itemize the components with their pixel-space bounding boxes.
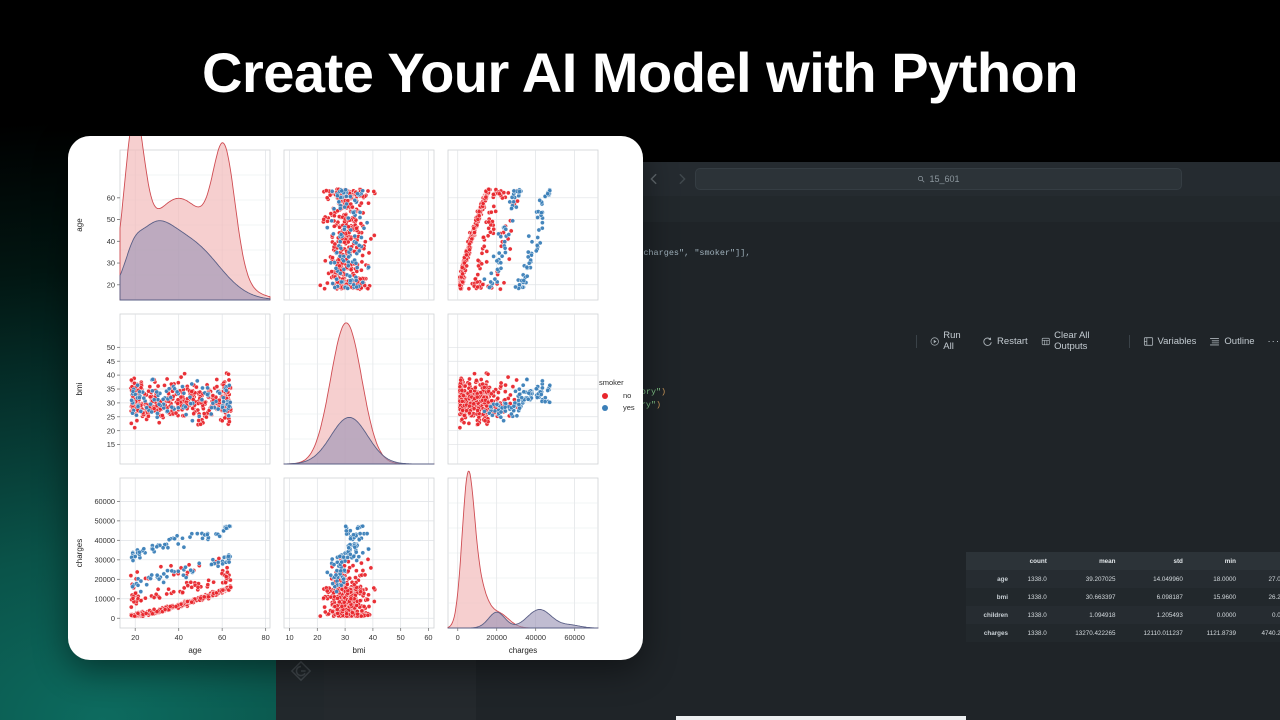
table-cell: 1.094918 [1051, 606, 1120, 624]
svg-text:60: 60 [424, 633, 432, 642]
svg-text:bmi: bmi [353, 646, 366, 655]
row-label: bmi [966, 588, 1012, 606]
table-cell: 1.205493 [1120, 606, 1187, 624]
svg-text:10000: 10000 [94, 594, 115, 603]
outline-icon [1209, 336, 1220, 347]
toolbar-divider-2 [1129, 335, 1130, 348]
table-cell: 6.098187 [1120, 588, 1187, 606]
table-row: age1338.039.20702514.04996018.000027.000… [966, 570, 1280, 588]
outline-button[interactable]: Outline [1209, 336, 1254, 347]
table-cell: 13270.422265 [1051, 624, 1120, 642]
svg-text:20: 20 [131, 633, 139, 642]
table-cell: 18.0000 [1187, 570, 1240, 588]
table-row: charges1338.013270.42226512110.011237112… [966, 624, 1280, 642]
table-cell: 15.9600 [1187, 588, 1240, 606]
svg-text:20: 20 [107, 280, 115, 289]
svg-text:40000: 40000 [94, 536, 115, 545]
svg-text:50000: 50000 [94, 516, 115, 525]
legend-title: smoker [599, 378, 635, 387]
legend-entry-yes: yes [599, 403, 635, 412]
arrow-left-icon[interactable] [647, 172, 661, 186]
svg-text:20000: 20000 [486, 633, 507, 642]
col-header-25pct: 25% [1240, 552, 1280, 570]
row-label: children [966, 606, 1012, 624]
col-header-min: min [1187, 552, 1240, 570]
search-text: 15_601 [929, 174, 959, 184]
legend-entry-no: no [599, 391, 635, 400]
legend-swatch-yes [602, 405, 608, 411]
svg-text:45: 45 [107, 357, 115, 366]
legend: smoker no yes [599, 378, 635, 415]
svg-text:30: 30 [107, 398, 115, 407]
restart-label: Restart [997, 336, 1028, 347]
cell-selection-bar [676, 716, 966, 720]
outline-label: Outline [1224, 336, 1254, 347]
run-all-label: Run All [943, 330, 969, 352]
variables-label: Variables [1158, 336, 1197, 347]
legend-swatch-no [602, 393, 608, 399]
svg-text:20000: 20000 [94, 575, 115, 584]
table-cell: 4740.28715 [1240, 624, 1280, 642]
table-cell: 39.207025 [1051, 570, 1120, 588]
svg-text:0: 0 [111, 614, 115, 623]
svg-text:60: 60 [107, 193, 115, 202]
arrow-right-icon[interactable] [675, 172, 689, 186]
restart-icon [982, 336, 993, 347]
svg-text:60000: 60000 [94, 497, 115, 506]
variables-icon [1143, 336, 1154, 347]
search-input[interactable]: 15_601 [695, 168, 1182, 190]
pairplot-figure: 2030405060age1520253035404550bmi20406080… [68, 136, 643, 660]
dataframe-output: countmeanstdmin25%50%75%max age1338.039.… [966, 552, 1280, 642]
col-header-mean: mean [1051, 552, 1120, 570]
col-header-std: std [1120, 552, 1187, 570]
svg-text:age: age [188, 646, 202, 655]
svg-text:30: 30 [107, 259, 115, 268]
svg-text:40: 40 [107, 371, 115, 380]
clear-icon [1041, 336, 1050, 347]
run-all-button[interactable]: Run All [930, 330, 969, 352]
table-header-row: countmeanstdmin25%50%75%max [966, 552, 1280, 570]
table-cell: 27.00000 [1240, 570, 1280, 588]
svg-text:80: 80 [262, 633, 270, 642]
table-cell: 1121.8739 [1187, 624, 1240, 642]
col-header-index [966, 552, 1012, 570]
svg-text:40: 40 [369, 633, 377, 642]
row-label: charges [966, 624, 1012, 642]
svg-text:60: 60 [218, 633, 226, 642]
search-icon [917, 175, 925, 183]
svg-text:40: 40 [175, 633, 183, 642]
clear-all-outputs-button[interactable]: Clear All Outputs [1041, 330, 1116, 352]
row-label: age [966, 570, 1012, 588]
table-cell: 1338.0 [1012, 624, 1051, 642]
svg-text:50: 50 [107, 215, 115, 224]
svg-text:30000: 30000 [94, 555, 115, 564]
svg-text:15: 15 [107, 440, 115, 449]
svg-text:charges: charges [509, 646, 537, 655]
table-row: bmi1338.030.6633976.09818715.960026.2962… [966, 588, 1280, 606]
svg-text:age: age [75, 218, 84, 232]
table-cell: 1338.0 [1012, 570, 1051, 588]
toolbar-divider [916, 335, 917, 348]
svg-text:charges: charges [75, 539, 84, 567]
svg-text:35: 35 [107, 385, 115, 394]
svg-text:bmi: bmi [75, 382, 84, 395]
col-header-count: count [1012, 552, 1051, 570]
svg-text:60000: 60000 [564, 633, 585, 642]
more-actions-button[interactable]: ··· [1268, 336, 1280, 347]
gitlens-icon[interactable] [290, 660, 312, 682]
svg-text:20: 20 [313, 633, 321, 642]
svg-text:50: 50 [397, 633, 405, 642]
svg-text:20: 20 [107, 426, 115, 435]
more-actions-label: ··· [1268, 336, 1280, 347]
svg-text:30: 30 [341, 633, 349, 642]
table-cell: 14.049960 [1120, 570, 1187, 588]
svg-text:50: 50 [107, 343, 115, 352]
svg-text:40: 40 [107, 237, 115, 246]
table-cell: 12110.011237 [1120, 624, 1187, 642]
pairplot-card: 2030405060age1520253035404550bmi20406080… [68, 136, 643, 660]
table-row: children1338.01.0949181.2054930.00000.00… [966, 606, 1280, 624]
svg-text:10: 10 [285, 633, 293, 642]
table-cell: 30.663397 [1051, 588, 1120, 606]
restart-button[interactable]: Restart [982, 336, 1028, 347]
table-body: age1338.039.20702514.04996018.000027.000… [966, 570, 1280, 642]
table-cell: 0.00000 [1240, 606, 1280, 624]
code-token-paren-3b: ) [656, 400, 661, 410]
table-cell: 0.0000 [1187, 606, 1240, 624]
code-token-paren-2b: ) [661, 387, 666, 397]
legend-label-yes: yes [623, 403, 635, 412]
table-cell: 1338.0 [1012, 588, 1051, 606]
svg-text:0: 0 [456, 633, 460, 642]
table-cell: 26.29625 [1240, 588, 1280, 606]
legend-label-no: no [623, 391, 631, 400]
svg-text:40000: 40000 [525, 633, 546, 642]
svg-text:25: 25 [107, 412, 115, 421]
clear-all-outputs-label: Clear All Outputs [1054, 330, 1115, 352]
notebook-toolbar[interactable]: Run All Restart Clear All Outputs [916, 330, 1280, 352]
describe-table: countmeanstdmin25%50%75%max age1338.039.… [966, 552, 1280, 642]
play-icon [930, 336, 939, 347]
table-cell: 1338.0 [1012, 606, 1051, 624]
variables-button[interactable]: Variables [1143, 336, 1197, 347]
page-title: Create Your AI Model with Python [0, 40, 1280, 105]
